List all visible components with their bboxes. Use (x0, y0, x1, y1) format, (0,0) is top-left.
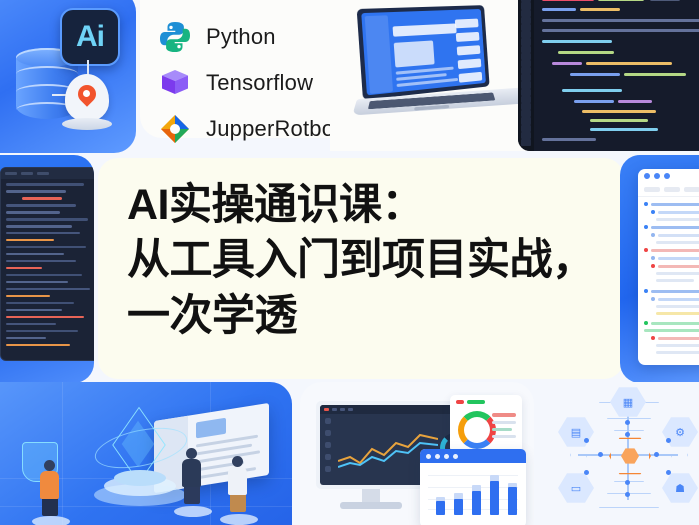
list-item: JupperRotbook (158, 106, 358, 152)
notebook-document-illustration-icon (638, 169, 699, 365)
line-number-gutter (518, 0, 534, 151)
title-line-1: AI实操通识课： (127, 178, 597, 233)
bottom-row: ▦ ▤ ⚙ ▭ ☗ (0, 382, 699, 525)
location-pin-icon (65, 74, 109, 122)
browser-toolbar (320, 405, 460, 414)
monitor-stand (362, 489, 380, 503)
title-panel: AI实操通识课： 从工具入门到项目实战， 一次学透 (98, 158, 624, 379)
ai-badge-icon: Ai (60, 8, 120, 66)
network-diagram-panel: ▦ ▤ ⚙ ▭ ☗ (540, 382, 699, 525)
notebook-panel (620, 155, 699, 383)
python-logo-icon (158, 20, 192, 54)
window-titlebar (1, 168, 94, 179)
pin-base (62, 118, 112, 130)
tech-logo-list: Python Tensorflow (158, 14, 358, 152)
notebook-outline (638, 197, 699, 363)
top-row: Ai Python (0, 0, 699, 155)
notebook-titlebar (638, 169, 699, 183)
laptop-screen (357, 5, 490, 100)
list-item-label: Tensorflow (206, 70, 313, 96)
title-line-3: 一次学透 (127, 289, 597, 344)
monitor-foot (340, 502, 402, 509)
isometric-scene-panel (0, 382, 292, 525)
database-ai-panel: Ai (0, 0, 136, 153)
podium-illustration (94, 470, 186, 506)
code-window-panel (0, 155, 94, 383)
middle-row: AI实操通识课： 从工具入门到项目实战， 一次学透 (0, 155, 699, 383)
page-title: AI实操通识课： 从工具入门到项目实战， 一次学透 (127, 178, 597, 344)
donut-chart-icon (458, 411, 496, 449)
course-poster: Ai Python (0, 0, 699, 525)
code-editor-panel (518, 0, 699, 151)
analytics-dashboard-panel (300, 382, 534, 525)
card-titlebar (420, 449, 526, 463)
title-line-2: 从工具入门到项目实战， (127, 233, 597, 288)
list-item: Tensorflow (158, 60, 358, 106)
jupyter-diamond-icon (158, 112, 192, 146)
bar-chart-card (420, 449, 526, 525)
dark-code-window-illustration-icon (0, 167, 94, 361)
laptop-illustration-icon (348, 0, 531, 130)
donut-chart-card (450, 395, 522, 453)
list-item: Python (158, 14, 358, 60)
list-item-label: Python (206, 24, 276, 50)
tensorflow-box-icon (158, 66, 192, 100)
code-body (1, 179, 94, 355)
notebook-tabs (638, 183, 699, 197)
